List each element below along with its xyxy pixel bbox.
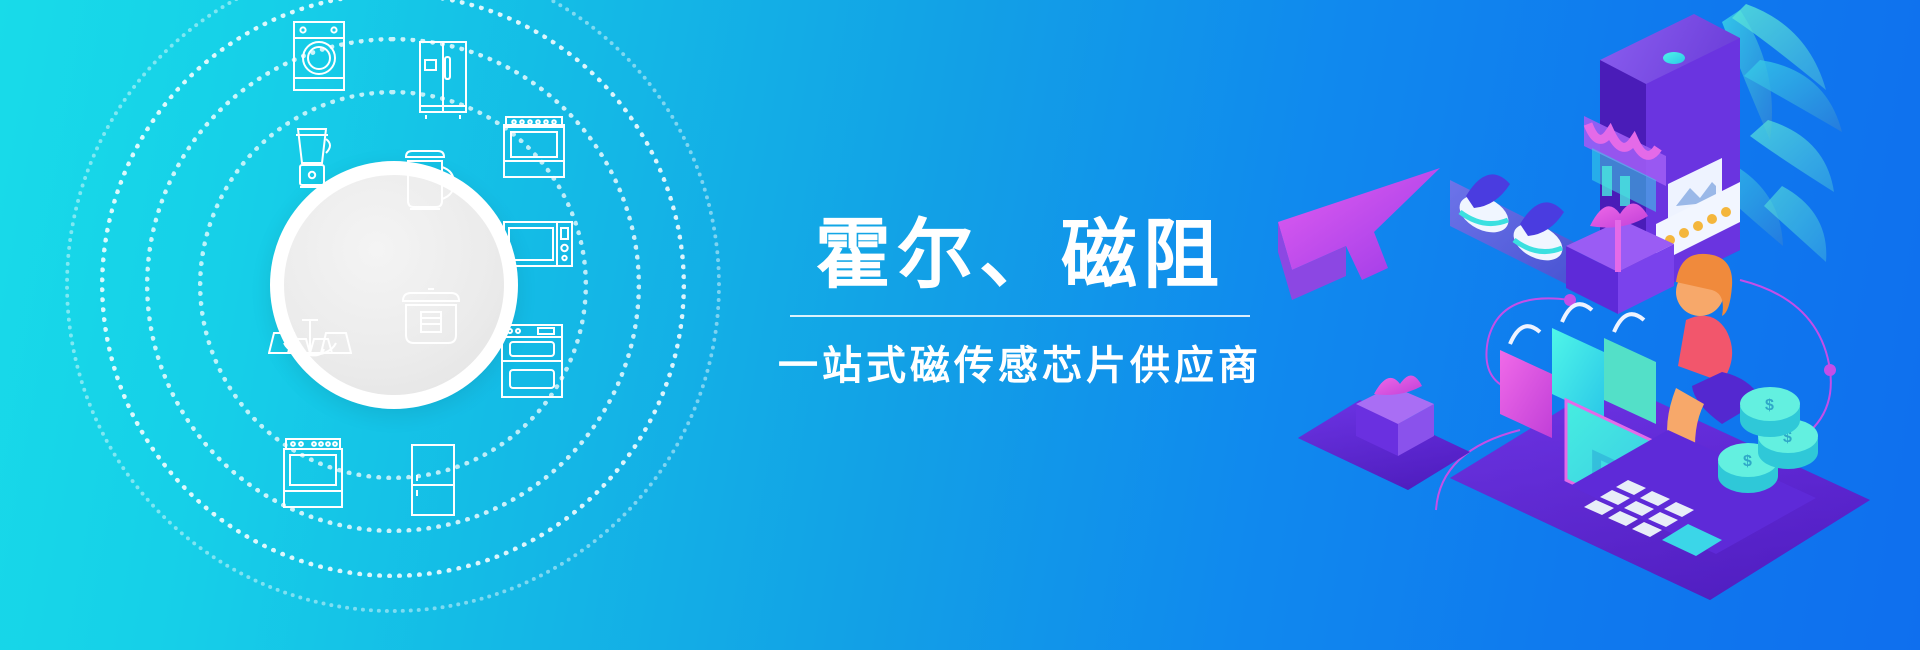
page-subtitle: 一站式磁传感芯片供应商 — [760, 333, 1280, 391]
headline-block: 霍尔、磁阻 一站式磁传感芯片供应商 — [760, 215, 1280, 391]
refrigerator-bottom-freezer-icon — [410, 443, 456, 519]
rice-cooker-icon — [400, 287, 462, 351]
washing-machine-icon — [292, 20, 346, 92]
title-divider — [790, 315, 1250, 317]
page-title: 霍尔、磁阻 — [760, 215, 1280, 297]
cursor-arrow-icon — [1278, 168, 1440, 300]
shoes-display-icon — [1450, 174, 1578, 290]
svg-text:$: $ — [1765, 397, 1774, 414]
orbit-graphic — [70, 0, 730, 650]
refrigerator-side-by-side-icon — [418, 40, 468, 120]
chandelier-icon — [268, 317, 352, 381]
svg-text:$: $ — [1743, 453, 1752, 470]
range-oven-icon — [502, 115, 566, 183]
hero-banner: 霍尔、磁阻 一站式磁传感芯片供应商 — [0, 0, 1920, 650]
stove-icon — [282, 437, 344, 509]
microwave-icon — [502, 220, 574, 268]
electric-kettle-icon — [400, 145, 458, 217]
ecommerce-shopping-illustration: BUY — [1270, 0, 1920, 650]
blender-icon — [288, 125, 336, 191]
wall-oven-icon — [500, 323, 564, 399]
